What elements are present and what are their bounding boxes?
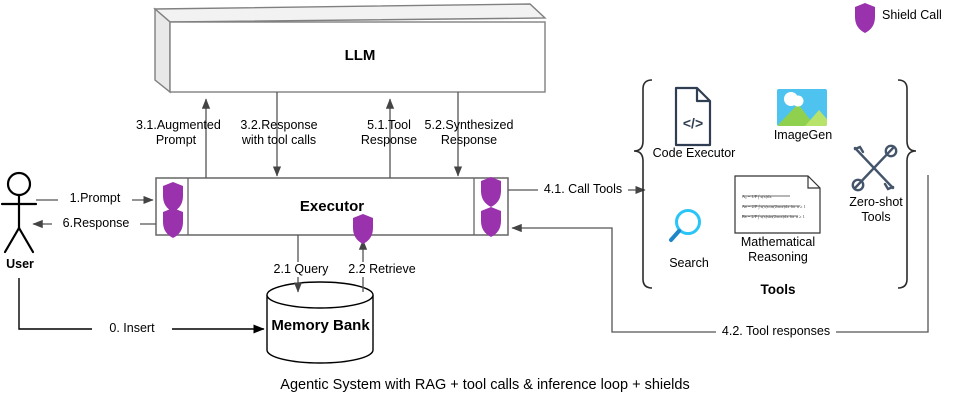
tools-group-label: Tools bbox=[728, 282, 828, 297]
svg-text:Bₙ = 2/P ∫ s(x)sin(2πnx)dx: Bₙ = 2/P ∫ s(x)sin(2πnx)dx for n ≥ 1 bbox=[742, 214, 805, 220]
image-gen-icon bbox=[777, 89, 833, 126]
diagram-canvas: </> A₀ = 1/P ∫ s(x bbox=[0, 0, 970, 411]
edge-label-5-2: 5.2.Synthesized Response bbox=[421, 118, 517, 148]
edge-label-3-2: 3.2.Response with tool calls bbox=[233, 118, 325, 148]
svg-text:</>: </> bbox=[683, 115, 703, 131]
user-label: User bbox=[0, 257, 40, 272]
shield-icon-executor-right-top bbox=[481, 177, 501, 207]
tool-label-imagegen: ImageGen bbox=[762, 128, 844, 143]
executor-label: Executor bbox=[282, 199, 382, 214]
edge-label-6-response: 6.Response bbox=[52, 216, 140, 231]
shield-icon-executor-left-top bbox=[163, 182, 183, 212]
shield-icon-executor-right-bottom bbox=[481, 207, 501, 237]
llm-label: LLM bbox=[310, 48, 410, 63]
shield-icon-legend bbox=[855, 3, 875, 33]
edge-label-1-prompt: 1.Prompt bbox=[58, 191, 132, 206]
crossed-tools-icon bbox=[853, 146, 896, 190]
edge-label-4-2: 4.2. Tool responses bbox=[716, 324, 836, 339]
tool-label-search: Search bbox=[656, 256, 722, 271]
tool-label-mathematical-reasoning: Mathematical Reasoning bbox=[726, 235, 830, 265]
shield-icon-executor-bottom-center bbox=[353, 214, 373, 244]
diagram-caption: Agentic System with RAG + tool calls & i… bbox=[0, 377, 970, 393]
search-icon bbox=[671, 211, 700, 241]
edge-label-3-1: 3.1.Augmented Prompt bbox=[136, 118, 216, 148]
tool-label-zero-shot-tools: Zero-shot Tools bbox=[838, 195, 914, 225]
shield-icon-executor-left-bottom bbox=[163, 208, 183, 238]
svg-text:A₀ = 1/P ∫ s(x)dx: A₀ = 1/P ∫ s(x)dx bbox=[742, 194, 772, 200]
edge-label-2-2-retrieve: 2.2 Retrieve bbox=[337, 262, 427, 277]
edge-label-0-insert: 0. Insert bbox=[92, 321, 172, 336]
memory-bank-label: Memory Bank bbox=[268, 318, 373, 333]
svg-text:Aₙ = 2/P ∫ s(x)cos(2πnx)dx: Aₙ = 2/P ∫ s(x)cos(2πnx)dx for n ≥ 1 bbox=[742, 204, 806, 210]
math-doc-icon: A₀ = 1/P ∫ s(x)dx Aₙ = 2/P ∫ s(x)cos(2πn… bbox=[735, 176, 820, 233]
edge-label-5-1: 5.1.Tool Response bbox=[348, 118, 430, 148]
user-actor bbox=[2, 173, 36, 252]
legend-label: Shield Call bbox=[882, 8, 970, 23]
edge-label-4-1: 4.1. Call Tools bbox=[538, 182, 628, 197]
tool-label-code-executor: Code Executor bbox=[648, 146, 740, 161]
edge-label-2-1-query: 2.1 Query bbox=[262, 262, 340, 277]
code-executor-icon: </> bbox=[676, 88, 710, 145]
